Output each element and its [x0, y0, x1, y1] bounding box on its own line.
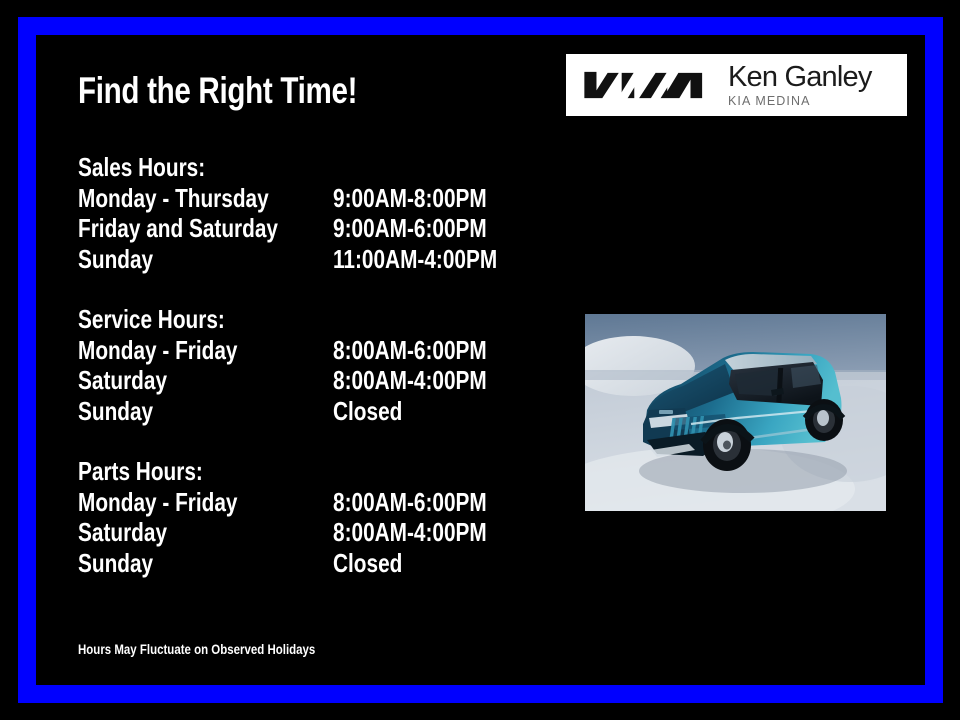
time-value: 8:00AM-4:00PM [333, 365, 487, 396]
time-value: Closed [333, 548, 402, 579]
day-label: Monday - Thursday [78, 183, 269, 214]
hours-row: Saturday 8:00AM-4:00PM [78, 517, 548, 548]
time-value: 8:00AM-6:00PM [333, 487, 487, 518]
hours-row: Monday - Thursday 9:00AM-8:00PM [78, 183, 548, 214]
hours-row: Sunday 11:00AM-4:00PM [78, 244, 548, 275]
page-title: Find the Right Time! [78, 72, 357, 109]
hours-block: Sales Hours: Monday - Thursday 9:00AM-8:… [78, 152, 548, 578]
time-value: 8:00AM-6:00PM [333, 335, 487, 366]
day-label: Monday - Friday [78, 487, 237, 518]
hours-row: Monday - Friday 8:00AM-6:00PM [78, 335, 548, 366]
hours-section-service: Service Hours: Monday - Friday 8:00AM-6:… [78, 304, 548, 426]
dealer-subtitle: KIA MEDINA [728, 94, 872, 109]
dealer-logo-plate: Ken Ganley KIA MEDINA [566, 54, 907, 116]
hours-row: Sunday Closed [78, 548, 548, 579]
time-value: 9:00AM-6:00PM [333, 213, 487, 244]
hours-row: Monday - Friday 8:00AM-6:00PM [78, 487, 548, 518]
hours-row: Friday and Saturday 9:00AM-6:00PM [78, 213, 548, 244]
time-value: 9:00AM-8:00PM [333, 183, 487, 214]
hours-section-parts: Parts Hours: Monday - Friday 8:00AM-6:00… [78, 456, 548, 578]
section-heading: Service Hours: [78, 304, 454, 335]
time-value: 11:00AM-4:00PM [333, 244, 497, 275]
day-label: Monday - Friday [78, 335, 237, 366]
day-label: Sunday [78, 548, 153, 579]
time-value: 8:00AM-4:00PM [333, 517, 487, 548]
dealer-name: Ken Ganley [728, 62, 872, 93]
vehicle-photo [585, 314, 886, 511]
hours-section-sales: Sales Hours: Monday - Thursday 9:00AM-8:… [78, 152, 548, 274]
kia-logo-icon [580, 69, 706, 101]
slide-canvas: Find the Right Time! Sales Hours: Monday… [0, 0, 960, 720]
hours-row: Sunday Closed [78, 396, 548, 427]
holiday-disclaimer: Hours May Fluctuate on Observed Holidays [78, 640, 315, 658]
time-value: Closed [333, 396, 402, 427]
section-heading: Sales Hours: [78, 152, 454, 183]
hours-row: Saturday 8:00AM-4:00PM [78, 365, 548, 396]
day-label: Saturday [78, 365, 167, 396]
section-heading: Parts Hours: [78, 456, 454, 487]
day-label: Saturday [78, 517, 167, 548]
day-label: Sunday [78, 244, 153, 275]
day-label: Sunday [78, 396, 153, 427]
day-label: Friday and Saturday [78, 213, 278, 244]
dealer-name-group: Ken Ganley KIA MEDINA [728, 62, 872, 109]
